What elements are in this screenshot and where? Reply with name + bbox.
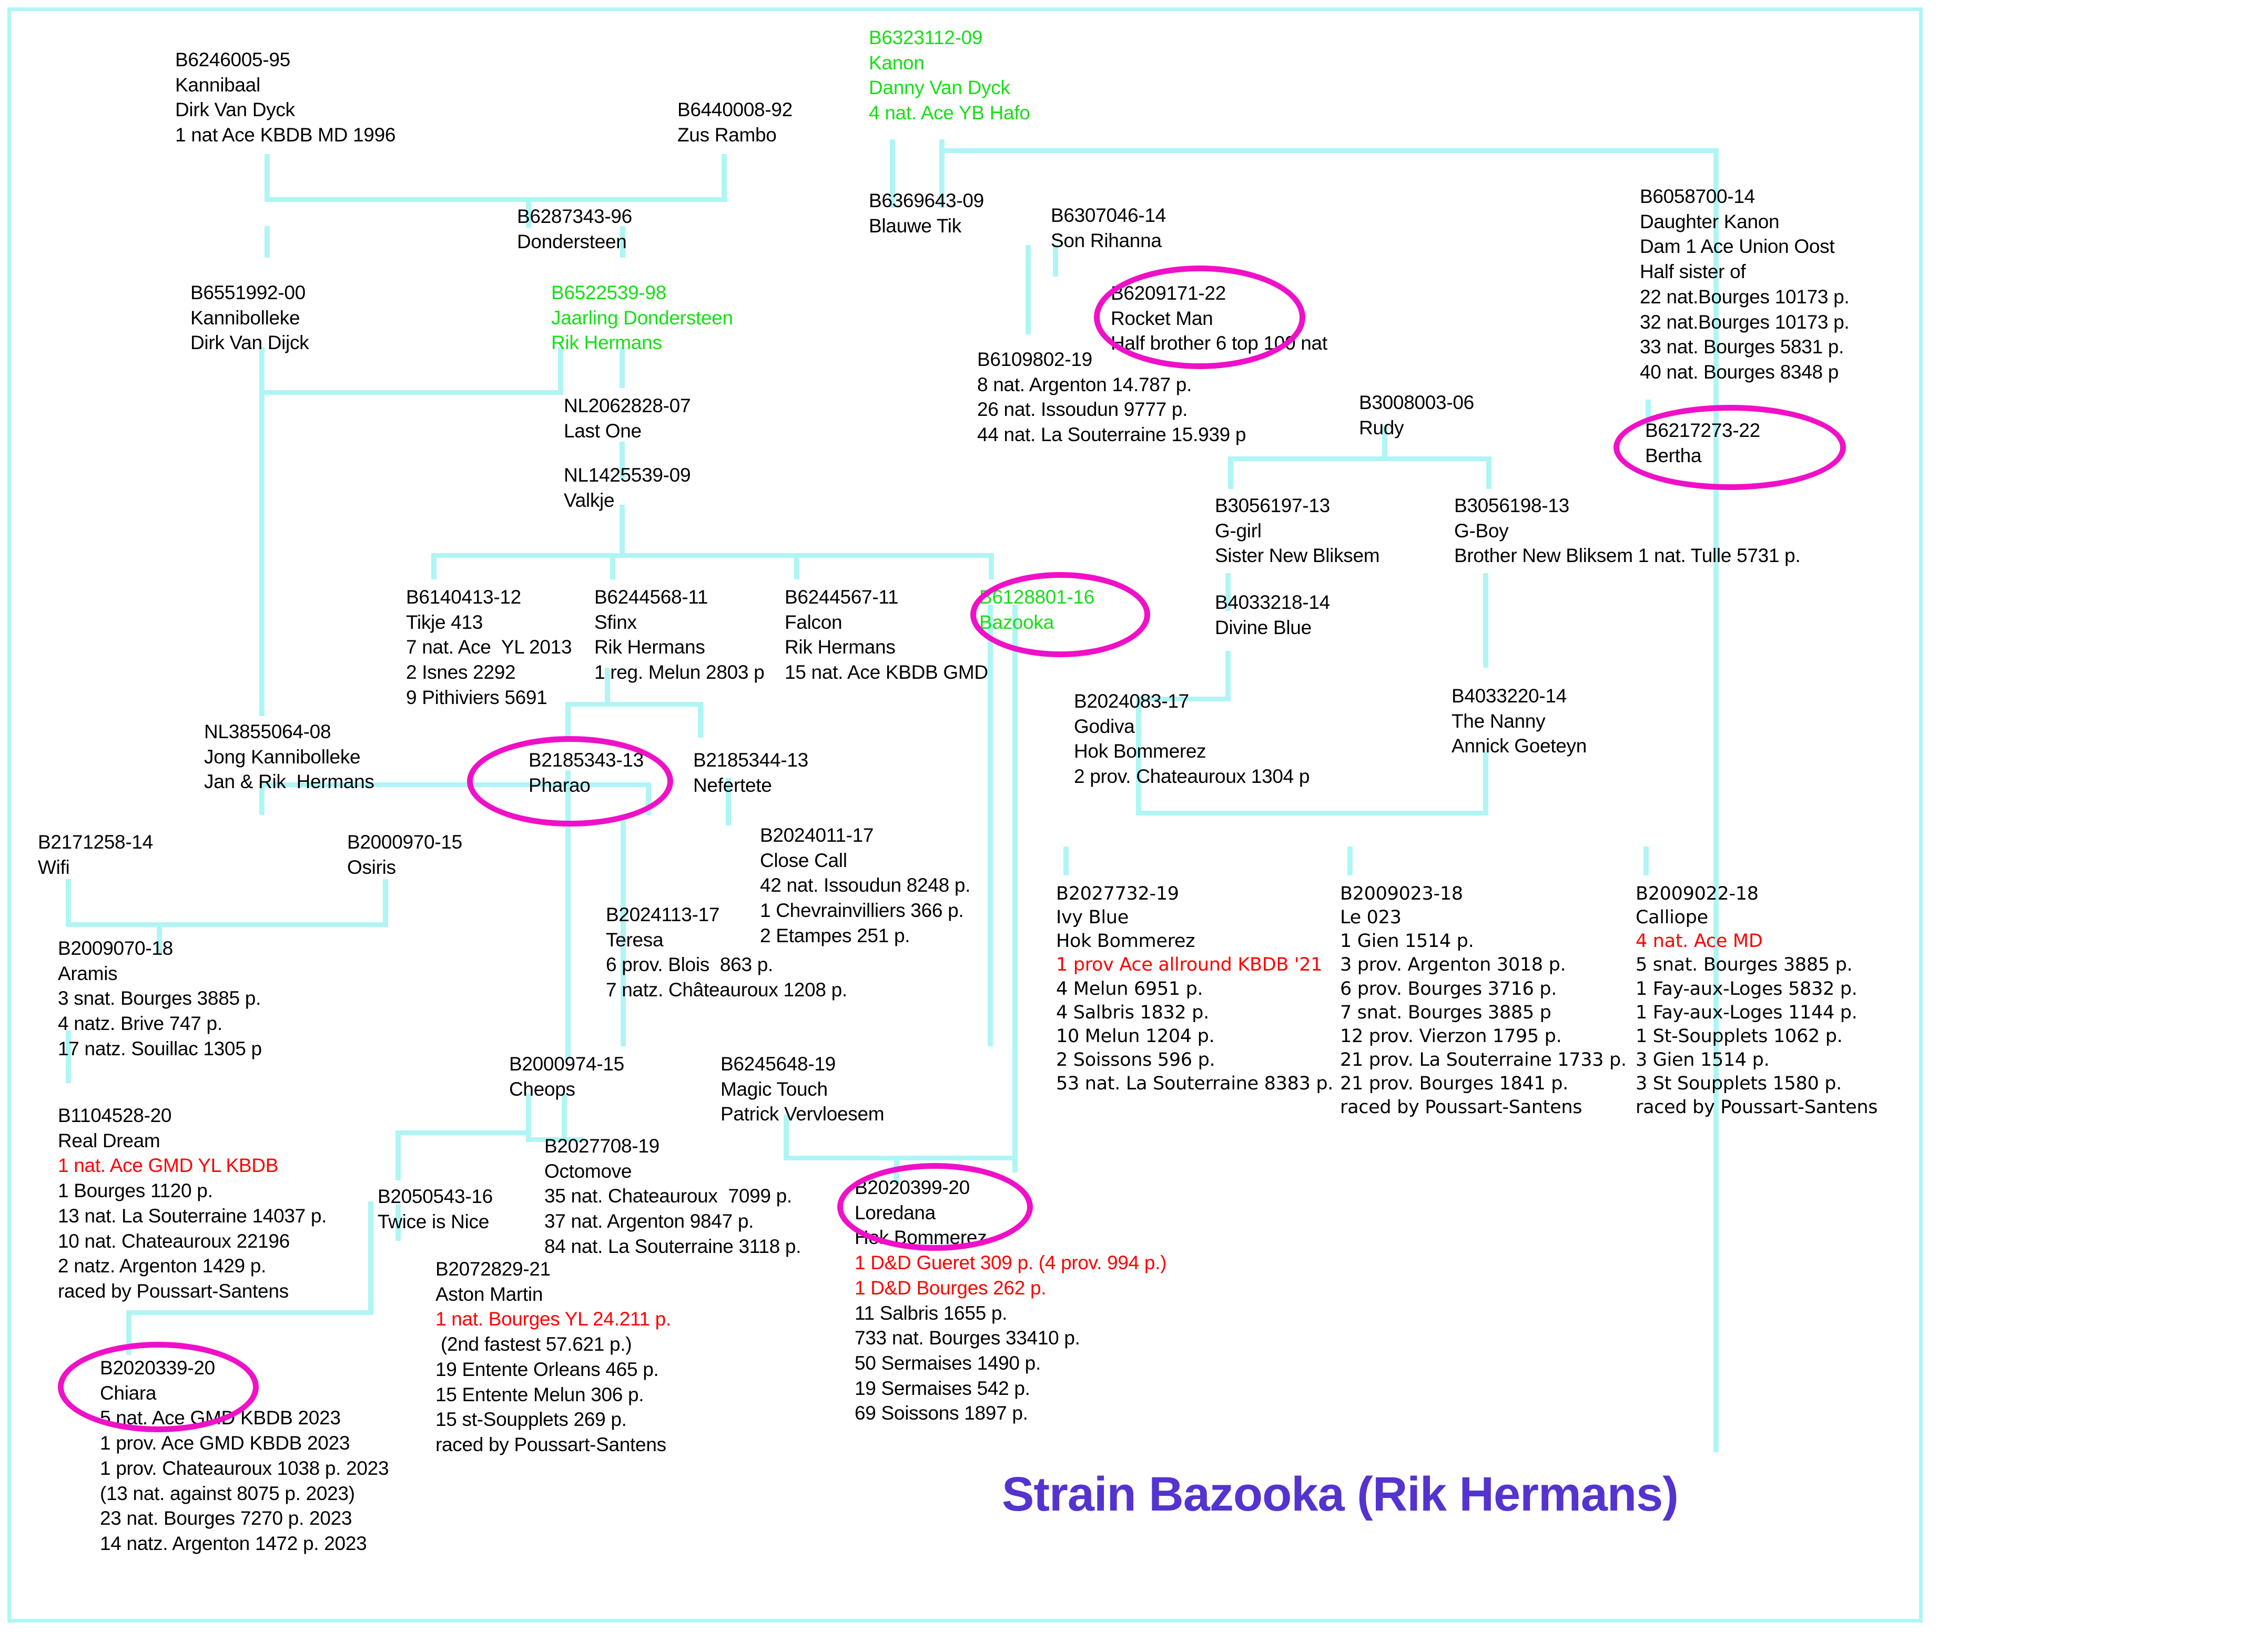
node-line: Calliope bbox=[1636, 906, 1878, 930]
node-line: Teresa bbox=[606, 927, 847, 953]
node-son-rihanna[interactable]: B6307046-14Son Rihanna bbox=[1051, 203, 1166, 253]
node-line: Nefertete bbox=[693, 773, 808, 798]
node-bazooka[interactable]: B6128801-16Bazooka bbox=[979, 585, 1094, 635]
node-dondersteen[interactable]: B6287343-96Dondersteen bbox=[517, 204, 632, 254]
node-line: B2009022-18 bbox=[1636, 882, 1878, 906]
connector bbox=[1228, 456, 1233, 489]
node-tikje-413[interactable]: B6140413-12Tikje 4137 nat. Ace YL 20132 … bbox=[406, 585, 572, 710]
node-line: 23 nat. Bourges 7270 p. 2023 bbox=[100, 1506, 389, 1531]
node-line: Hok Bommerez bbox=[855, 1225, 1166, 1250]
node-line: 13 nat. La Souterraine 14037 p. bbox=[58, 1204, 327, 1229]
node-line: B6109802-19 bbox=[977, 347, 1246, 372]
node-line: 1 prov. Chateauroux 1038 p. 2023 bbox=[100, 1456, 389, 1481]
node-line: B6245648-19 bbox=[720, 1052, 884, 1077]
node-line: B3008003-06 bbox=[1359, 390, 1474, 415]
node-godiva[interactable]: B2024083-17GodivaHok Bommerez2 prov. Cha… bbox=[1074, 689, 1310, 789]
node-line: Patrick Vervloesem bbox=[720, 1102, 884, 1127]
node-line: Falcon bbox=[785, 610, 988, 635]
node-line: Rocket Man bbox=[1111, 306, 1327, 331]
node-rudy[interactable]: B3008003-06Rudy bbox=[1359, 390, 1474, 440]
node-line: 1 Gien 1514 p. bbox=[1340, 930, 1627, 953]
connector bbox=[939, 148, 1718, 153]
node-teresa[interactable]: B2024113-17Teresa6 prov. Blois 863 p.7 n… bbox=[606, 902, 847, 1003]
connector bbox=[1347, 847, 1353, 875]
connector bbox=[989, 553, 994, 579]
node-line: Octomove bbox=[544, 1159, 801, 1184]
node-line: 8 nat. Argenton 14.787 p. bbox=[977, 372, 1246, 397]
node-kannibolleke[interactable]: B6551992-00KannibollekeDirk Van Dijck bbox=[190, 280, 309, 355]
node-line: Le 023 bbox=[1340, 906, 1627, 930]
node-line: B6440008-92 bbox=[677, 97, 793, 123]
node-line: 1 Bourges 1120 p. bbox=[58, 1178, 327, 1204]
node-line: Kannibaal bbox=[175, 73, 395, 98]
connector bbox=[265, 226, 270, 258]
node-line: B6551992-00 bbox=[190, 280, 309, 305]
connector bbox=[259, 390, 563, 395]
connector bbox=[66, 879, 71, 926]
connector bbox=[1136, 811, 1488, 815]
node-line: 69 Soissons 1897 p. bbox=[855, 1401, 1166, 1426]
node-line: 3 prov. Argenton 3018 p. bbox=[1340, 953, 1627, 977]
node-line: Jong Kannibolleke bbox=[204, 745, 374, 770]
node-line: 15 nat. Ace KBDB GMD bbox=[785, 660, 988, 685]
node-nefertete[interactable]: B2185344-13Nefertete bbox=[693, 748, 808, 798]
node-line: B2020339-20 bbox=[100, 1355, 389, 1381]
node-line: B3056198-13 bbox=[1454, 493, 1800, 518]
node-divine-blue[interactable]: B4033218-14Divine Blue bbox=[1215, 590, 1330, 640]
node-line: Ivy Blue bbox=[1056, 906, 1333, 930]
node-g-girl[interactable]: B3056197-13G-girlSister New Bliksem bbox=[1215, 493, 1379, 568]
node-line: 53 nat. La Souterraine 8383 p. bbox=[1056, 1072, 1333, 1096]
node-line: 9 Pithiviers 5691 bbox=[406, 685, 572, 710]
node-twice-is-nice[interactable]: B2050543-16Twice is Nice bbox=[378, 1184, 493, 1234]
node-line: 12 prov. Vierzon 1795 p. bbox=[1340, 1025, 1627, 1048]
node-line: B2185343-13 bbox=[529, 748, 644, 773]
node-line: B2024113-17 bbox=[606, 902, 847, 927]
node-magic-touch[interactable]: B6245648-19Magic TouchPatrick Vervloesem bbox=[720, 1052, 884, 1127]
node-line: 50 Sermaises 1490 p. bbox=[855, 1351, 1166, 1376]
node-line: 1 reg. Melun 2803 p bbox=[594, 660, 764, 685]
node-line: 10 Melun 1204 p. bbox=[1056, 1025, 1333, 1048]
connector bbox=[988, 605, 993, 1046]
node-line: Dam 1 Ace Union Oost bbox=[1640, 234, 1849, 259]
connector bbox=[565, 702, 703, 707]
node-line: Danny Van Dyck bbox=[869, 75, 1030, 100]
connector bbox=[66, 922, 388, 927]
connector bbox=[395, 1130, 401, 1180]
node-line: 1 prov. Ace GMD KBDB 2023 bbox=[100, 1431, 389, 1456]
connector bbox=[1026, 245, 1031, 334]
node-line: Tikje 413 bbox=[406, 610, 572, 635]
node-sfinx[interactable]: B6244568-11SfinxRik Hermans1 reg. Melun … bbox=[594, 585, 764, 685]
node-line: Last One bbox=[564, 419, 691, 444]
connector bbox=[431, 553, 437, 579]
node-bertha[interactable]: B6217273-22Bertha bbox=[1645, 418, 1760, 468]
connector bbox=[1012, 605, 1018, 1172]
node-line: 3 Gien 1514 p. bbox=[1636, 1048, 1878, 1072]
node-the-nanny[interactable]: B4033220-14The NannyAnnick Goeteyn bbox=[1452, 684, 1587, 759]
node-le-023[interactable]: B2009023-18Le 0231 Gien 1514 p.3 prov. A… bbox=[1340, 882, 1627, 1119]
connector bbox=[383, 879, 388, 926]
connector bbox=[265, 197, 727, 202]
node-line: raced by Poussart-Santens bbox=[435, 1432, 671, 1457]
node-line: Real Dream bbox=[58, 1128, 327, 1154]
node-chiara[interactable]: B2020339-20Chiara5 nat. Ace GMD KBDB 202… bbox=[100, 1355, 389, 1556]
node-line: (13 nat. against 8075 p. 2023) bbox=[100, 1481, 389, 1506]
node-line: B6323112-09 bbox=[869, 25, 1030, 50]
node-line: 17 natz. Souillac 1305 p bbox=[58, 1036, 262, 1062]
node-line: Half sister of bbox=[1640, 259, 1849, 284]
node-line: NL3855064-08 bbox=[204, 719, 374, 745]
node-line: Dirk Van Dijck bbox=[190, 330, 309, 355]
node-line: Hok Bommerez bbox=[1056, 930, 1333, 953]
node-line: Dirk Van Dyck bbox=[175, 97, 395, 123]
node-line: 84 nat. La Souterraine 3118 p. bbox=[544, 1234, 801, 1259]
node-kanon[interactable]: B6323112-09KanonDanny Van Dyck4 nat. Ace… bbox=[869, 25, 1030, 126]
node-valkje[interactable]: NL1425539-09Valkje bbox=[564, 463, 691, 513]
node-line: 2 prov. Chateauroux 1304 p bbox=[1074, 764, 1310, 789]
node-line: B3056197-13 bbox=[1215, 493, 1379, 518]
node-line: 37 nat. Argenton 9847 p. bbox=[544, 1209, 801, 1234]
node-line: Godiva bbox=[1074, 714, 1310, 739]
node-line: 40 nat. Bourges 8348 p bbox=[1640, 360, 1849, 385]
node-line: B6246005-95 bbox=[175, 47, 395, 73]
node-line: 2 natz. Argenton 1429 p. bbox=[58, 1253, 327, 1279]
node-line: 14 natz. Argenton 1472 p. 2023 bbox=[100, 1531, 389, 1556]
connector bbox=[1228, 456, 1491, 461]
node-line: 4 nat. Ace YB Hafo bbox=[869, 100, 1030, 126]
node-line: G-girl bbox=[1215, 518, 1379, 544]
connector bbox=[1483, 752, 1488, 815]
node-line: Osiris bbox=[347, 855, 462, 880]
node-line: Bertha bbox=[1645, 443, 1760, 468]
connector bbox=[368, 1201, 373, 1314]
node-line: 1 Fay-aux-Loges 1144 p. bbox=[1636, 1001, 1878, 1025]
node-line: Son Rihanna bbox=[1051, 228, 1166, 253]
node-line: Wifi bbox=[38, 855, 153, 880]
node-line: Annick Goeteyn bbox=[1452, 733, 1587, 759]
node-line: (2nd fastest 57.621 p.) bbox=[435, 1332, 671, 1357]
node-line: B6287343-96 bbox=[517, 204, 632, 229]
node-line: Hok Bommerez bbox=[1074, 739, 1310, 764]
node-line: B6369643-09 bbox=[869, 188, 984, 213]
node-line: B2185344-13 bbox=[693, 748, 808, 773]
connector bbox=[565, 770, 571, 1059]
node-line: 33 nat. Bourges 5831 p. bbox=[1640, 334, 1849, 360]
connector bbox=[431, 553, 994, 558]
node-line: Magic Touch bbox=[720, 1077, 884, 1102]
node-octomove[interactable]: B2027708-19Octomove35 nat. Chateauroux 7… bbox=[544, 1134, 801, 1259]
node-line: 3 St Soupplets 1580 p. bbox=[1636, 1072, 1878, 1096]
node-aramis[interactable]: B2009070-18Aramis3 snat. Bourges 3885 p.… bbox=[58, 936, 262, 1062]
node-g-boy[interactable]: B3056198-13G-BoyBrother New Bliksem 1 na… bbox=[1454, 493, 1800, 568]
node-line: B6522539-98 bbox=[551, 280, 733, 305]
node-line: B6307046-14 bbox=[1051, 203, 1166, 228]
node-osiris[interactable]: B2000970-15Osiris bbox=[347, 830, 462, 880]
node-line: 11 Salbris 1655 p. bbox=[855, 1301, 1166, 1326]
node-blauwe-tik[interactable]: B6369643-09Blauwe Tik bbox=[869, 188, 984, 238]
connector bbox=[1486, 456, 1491, 489]
node-line: B6217273-22 bbox=[1645, 418, 1760, 443]
node-line: 35 nat. Chateauroux 7099 p. bbox=[544, 1184, 801, 1209]
connector bbox=[1483, 573, 1488, 668]
node-line: Divine Blue bbox=[1215, 615, 1330, 640]
node-line: 6 prov. Blois 863 p. bbox=[606, 952, 847, 977]
node-line: B2009070-18 bbox=[58, 936, 262, 961]
connector bbox=[126, 1310, 131, 1355]
node-line: B4033218-14 bbox=[1215, 590, 1330, 615]
node-line: NL2062828-07 bbox=[564, 393, 691, 419]
node-line: 21 prov. Bourges 1841 p. bbox=[1340, 1072, 1627, 1096]
node-line: 7 snat. Bourges 3885 p bbox=[1340, 1001, 1627, 1025]
node-line: Jan & Rik Hermans bbox=[204, 769, 374, 794]
node-line: Kannibolleke bbox=[190, 305, 309, 331]
node-line: Twice is Nice bbox=[378, 1209, 493, 1235]
node-line: 733 nat. Bourges 33410 p. bbox=[855, 1325, 1166, 1351]
node-line: 1 nat. Bourges YL 24.211 p. bbox=[435, 1307, 671, 1332]
node-line: Pharao bbox=[529, 773, 644, 798]
node-line: B2000974-15 bbox=[509, 1052, 624, 1077]
node-calliope[interactable]: B2009022-18Calliope4 nat. Ace MD5 snat. … bbox=[1636, 882, 1878, 1119]
connector bbox=[400, 1130, 526, 1135]
node-line: B2072829-21 bbox=[435, 1257, 671, 1282]
connector bbox=[794, 553, 799, 579]
node-ivy-blue[interactable]: B2027732-19Ivy BlueHok Bommerez1 prov Ac… bbox=[1056, 882, 1333, 1096]
node-line: 15 st-Soupplets 269 p. bbox=[435, 1407, 671, 1432]
node-line: B4033220-14 bbox=[1452, 684, 1587, 709]
page-title: Strain Bazooka (Rik Hermans) bbox=[1002, 1467, 1678, 1522]
node-line: Jaarling Dondersteen bbox=[551, 305, 733, 331]
node-line: 5 snat. Bourges 3885 p. bbox=[1636, 953, 1878, 977]
pedigree-chart: B6246005-95KannibaalDirk Van Dyck1 nat A… bbox=[0, 0, 2263, 1652]
connector bbox=[646, 782, 651, 815]
node-line: 42 nat. Issoudun 8248 p. bbox=[760, 873, 970, 898]
node-line: Rik Hermans bbox=[785, 635, 988, 660]
node-line: B2027732-19 bbox=[1056, 882, 1333, 906]
connector bbox=[698, 702, 703, 738]
node-line: 19 Entente Orleans 465 p. bbox=[435, 1357, 671, 1382]
node-loredana[interactable]: B2020399-20LoredanaHok Bommerez1 D&D Gue… bbox=[855, 1175, 1166, 1426]
node-kannibaal[interactable]: B6246005-95KannibaalDirk Van Dyck1 nat A… bbox=[175, 47, 395, 148]
node-jong-kannibolleke[interactable]: NL3855064-08Jong KannibollekeJan & Rik H… bbox=[204, 719, 374, 794]
connector bbox=[265, 154, 270, 201]
node-line: 22 nat.Bourges 10173 p. bbox=[1640, 284, 1849, 310]
node-line: 5 nat. Ace GMD KBDB 2023 bbox=[100, 1405, 389, 1431]
node-line: 19 Sermaises 542 p. bbox=[855, 1376, 1166, 1401]
node-line: Dondersteen bbox=[517, 229, 632, 254]
connector bbox=[259, 390, 265, 716]
node-line: B6209171-22 bbox=[1111, 281, 1327, 306]
node-line: Rik Hermans bbox=[594, 635, 764, 660]
node-line: 32 nat.Bourges 10173 p. bbox=[1640, 310, 1849, 335]
node-line: Valkje bbox=[564, 488, 691, 513]
node-line: raced by Poussart-Santens bbox=[1340, 1096, 1627, 1119]
node-line: 4 natz. Brive 747 p. bbox=[58, 1011, 262, 1036]
node-line: 1 D&D Gueret 309 p. (4 prov. 994 p.) bbox=[855, 1250, 1166, 1276]
node-zus-rambo[interactable]: B6440008-92Zus Rambo bbox=[677, 97, 793, 147]
node-rocket-man[interactable]: B6209171-22Rocket ManHalf brother 6 top … bbox=[1111, 281, 1327, 356]
connector bbox=[610, 553, 615, 579]
node-line: 21 prov. La Souterraine 1733 p. bbox=[1340, 1048, 1627, 1072]
node-jaarling-dondersteen[interactable]: B6522539-98Jaarling DondersteenRik Herma… bbox=[551, 280, 733, 355]
node-line: Chiara bbox=[100, 1381, 389, 1406]
node-line: Sfinx bbox=[594, 610, 764, 635]
node-line: 1 D&D Bourges 262 p. bbox=[855, 1276, 1166, 1301]
connector bbox=[784, 1156, 1015, 1160]
node-line: Blauwe Tik bbox=[869, 213, 984, 239]
node-line: 1 prov Ace allround KBDB '21 bbox=[1056, 953, 1333, 977]
node-line: 2 Isnes 2292 bbox=[406, 660, 572, 685]
node-line: Daughter Kanon bbox=[1640, 209, 1849, 234]
node-line: Rudy bbox=[1359, 415, 1474, 441]
node-line: Loredana bbox=[855, 1200, 1166, 1226]
node-line: 1 St-Soupplets 1062 p. bbox=[1636, 1025, 1878, 1048]
node-line: B6058700-14 bbox=[1640, 184, 1849, 209]
node-line: Close Call bbox=[760, 848, 970, 873]
node-line: 1 nat Ace KBDB MD 1996 bbox=[175, 123, 395, 148]
node-line: 6 prov. Bourges 3716 p. bbox=[1340, 977, 1627, 1001]
node-line: Kanon bbox=[869, 50, 1030, 76]
node-line: 2 Soissons 596 p. bbox=[1056, 1048, 1333, 1072]
node-line: B1104528-20 bbox=[58, 1103, 327, 1128]
node-line: 7 natz. Châteauroux 1208 p. bbox=[606, 977, 847, 1003]
node-line: 4 Salbris 1832 p. bbox=[1056, 1001, 1333, 1025]
node-line: B6244568-11 bbox=[594, 585, 764, 610]
node-wifi[interactable]: B2171258-14Wifi bbox=[38, 830, 153, 880]
node-line: Brother New Bliksem 1 nat. Tulle 5731 p. bbox=[1454, 543, 1800, 568]
node-line: B2000970-15 bbox=[347, 830, 462, 855]
node-line: Aston Martin bbox=[435, 1282, 671, 1307]
connector bbox=[722, 154, 727, 201]
node-line: raced by Poussart-Santens bbox=[1636, 1096, 1878, 1119]
node-line: B2009023-18 bbox=[1340, 882, 1627, 906]
connector bbox=[1063, 847, 1069, 875]
node-daughter-kanon[interactable]: B6058700-14Daughter KanonDam 1 Ace Union… bbox=[1640, 184, 1849, 385]
node-line: Zus Rambo bbox=[677, 123, 793, 148]
node-line: Rik Hermans bbox=[551, 330, 733, 355]
node-line: Aramis bbox=[58, 961, 262, 986]
node-line: Bazooka bbox=[979, 610, 1094, 635]
node-line: 3 snat. Bourges 3885 p. bbox=[58, 986, 262, 1011]
node-line: B2024083-17 bbox=[1074, 689, 1310, 714]
node-aston-martin[interactable]: B2072829-21Aston Martin1 nat. Bourges YL… bbox=[435, 1257, 671, 1457]
node-line: B2027708-19 bbox=[544, 1134, 801, 1159]
node-line: B2050543-16 bbox=[378, 1184, 493, 1209]
node-line: Cheops bbox=[509, 1077, 624, 1102]
node-pharao[interactable]: B2185343-13Pharao bbox=[529, 748, 644, 798]
node-line: The Nanny bbox=[1452, 709, 1587, 734]
node-line: 10 nat. Chateauroux 22196 bbox=[58, 1229, 327, 1254]
node-last-one[interactable]: NL2062828-07Last One bbox=[564, 393, 691, 443]
node-line: B6140413-12 bbox=[406, 585, 572, 610]
node-line: B6244567-11 bbox=[785, 585, 988, 610]
node-line: B2024011-17 bbox=[760, 823, 970, 848]
node-line: B2171258-14 bbox=[38, 830, 153, 855]
node-line: 4 nat. Ace MD bbox=[1636, 930, 1878, 953]
node-cheops[interactable]: B2000974-15Cheops bbox=[509, 1052, 624, 1102]
node-line: NL1425539-09 bbox=[564, 463, 691, 488]
node-falcon[interactable]: B6244567-11FalconRik Hermans15 nat. Ace … bbox=[785, 585, 988, 685]
node-line: 15 Entente Melun 306 p. bbox=[435, 1382, 671, 1408]
node-line: 26 nat. Issoudun 9777 p. bbox=[977, 397, 1246, 422]
connector bbox=[1643, 847, 1649, 875]
node-line: 4 Melun 6951 p. bbox=[1056, 977, 1333, 1001]
node-b6109802[interactable]: B6109802-198 nat. Argenton 14.787 p.26 n… bbox=[977, 347, 1246, 447]
node-line: 1 Fay-aux-Loges 5832 p. bbox=[1636, 977, 1878, 1001]
connector bbox=[126, 1310, 373, 1315]
node-line: Sister New Bliksem bbox=[1215, 543, 1379, 568]
node-line: G-Boy bbox=[1454, 518, 1800, 544]
node-line: 7 nat. Ace YL 2013 bbox=[406, 635, 572, 660]
node-line: B6128801-16 bbox=[979, 585, 1094, 610]
node-line: B2020399-20 bbox=[855, 1175, 1166, 1200]
node-line: raced by Poussart-Santens bbox=[58, 1279, 327, 1304]
node-line: 44 nat. La Souterraine 15.939 p bbox=[977, 422, 1246, 447]
node-real-dream[interactable]: B1104528-20Real Dream1 nat. Ace GMD YL K… bbox=[58, 1103, 327, 1304]
node-line: 1 nat. Ace GMD YL KBDB bbox=[58, 1153, 327, 1178]
